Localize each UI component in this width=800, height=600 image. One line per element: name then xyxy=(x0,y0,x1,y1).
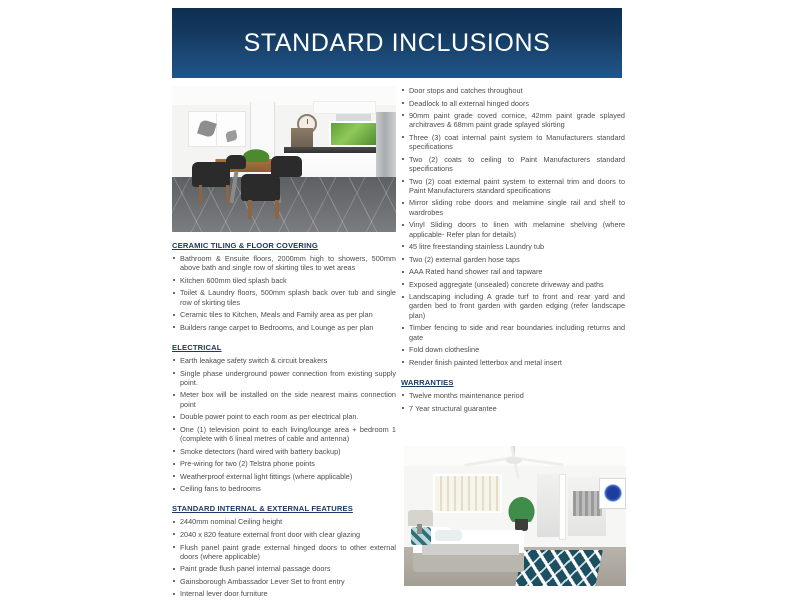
section-list: Door stops and catches throughout Deadlo… xyxy=(401,86,625,367)
list-item: Door stops and catches throughout xyxy=(401,86,625,95)
list-item: Internal lever door furniture xyxy=(172,589,396,598)
brochure-page: STANDARD INCLUSIONS xyxy=(0,0,800,600)
section-standard-features: STANDARD INTERNAL & EXTERNAL FEATURES 24… xyxy=(172,504,396,598)
list-item: Timber fencing to side and rear boundari… xyxy=(401,323,625,342)
section-heading: CERAMIC TILING & FLOOR COVERING xyxy=(172,241,396,250)
list-item: Landscaping including A grade turf to fr… xyxy=(401,292,625,320)
left-sections: CERAMIC TILING & FLOOR COVERING Bathroom… xyxy=(172,241,396,599)
list-item: Mirror sliding robe doors and melamine s… xyxy=(401,198,625,217)
list-item: Meter box will be installed on the side … xyxy=(172,390,396,409)
list-item: Gainsborough Ambassador Lever Set to fro… xyxy=(172,577,396,586)
list-item: Smoke detectors (hard wired with battery… xyxy=(172,447,396,456)
list-item: Earth leakage safety switch & circuit br… xyxy=(172,356,396,365)
list-item: Flush panel paint grade external hinged … xyxy=(172,543,396,562)
list-item: Double power point to each room as per e… xyxy=(172,412,396,421)
section-list: Twelve months maintenance period 7 Year … xyxy=(401,391,625,413)
section-heading: STANDARD INTERNAL & EXTERNAL FEATURES xyxy=(172,504,396,513)
list-item: Fold down clothesline xyxy=(401,345,625,354)
list-item: Builders range carpet to Bedrooms, and L… xyxy=(172,323,396,332)
section-electrical: ELECTRICAL Earth leakage safety switch &… xyxy=(172,343,396,493)
list-item: 90mm paint grade coved cornice, 42mm pai… xyxy=(401,111,625,130)
list-item: One (1) television point to each living/… xyxy=(172,425,396,444)
list-item: Bathroom & Ensuite floors, 2000mm high t… xyxy=(172,254,396,273)
section-list: Bathroom & Ensuite floors, 2000mm high t… xyxy=(172,254,396,332)
section-list: 2440mm nominal Ceiling height 2040 x 820… xyxy=(172,517,396,598)
bedroom-photo xyxy=(404,446,626,586)
section-warranties: WARRANTIES Twelve months maintenance per… xyxy=(401,378,625,413)
list-item: 7 Year structural guarantee xyxy=(401,404,625,413)
right-column: Door stops and catches throughout Deadlo… xyxy=(401,86,625,424)
list-item: Two (2) external garden hose taps xyxy=(401,255,625,264)
section-general-inclusions: Door stops and catches throughout Deadlo… xyxy=(401,86,625,367)
list-item: Three (3) coat internal paint system to … xyxy=(401,133,625,152)
kitchen-photo xyxy=(172,86,396,232)
list-item: Toilet & Laundry floors, 500mm splash ba… xyxy=(172,288,396,307)
list-item: Vinyl Sliding doors to linen with melami… xyxy=(401,220,625,239)
list-item: Weatherproof external light fittings (wh… xyxy=(172,472,396,481)
list-item: 2440mm nominal Ceiling height xyxy=(172,517,396,526)
list-item: Ceiling fans to bedrooms xyxy=(172,484,396,493)
list-item: 45 litre freestanding stainless Laundry … xyxy=(401,242,625,251)
section-heading: ELECTRICAL xyxy=(172,343,396,352)
page-header-banner: STANDARD INCLUSIONS xyxy=(172,8,622,78)
list-item: Twelve months maintenance period xyxy=(401,391,625,400)
section-heading: WARRANTIES xyxy=(401,378,625,387)
list-item: Deadlock to all external hinged doors xyxy=(401,99,625,108)
list-item: Ceramic tiles to Kitchen, Meals and Fami… xyxy=(172,310,396,319)
list-item: Kitchen 600mm tiled splash back xyxy=(172,276,396,285)
list-item: 2040 x 820 feature external front door w… xyxy=(172,530,396,539)
left-column: CERAMIC TILING & FLOOR COVERING Bathroom… xyxy=(172,86,396,600)
list-item: AAA Rated hand shower rail and tapware xyxy=(401,267,625,276)
list-item: Pre-wiring for two (2) Telstra phone poi… xyxy=(172,459,396,468)
list-item: Two (2) coats to ceiling to Paint Manufa… xyxy=(401,155,625,174)
list-item: Two (2) coat external paint system to ex… xyxy=(401,177,625,196)
list-item: Single phase underground power connectio… xyxy=(172,369,396,388)
list-item: Paint grade flush panel internal passage… xyxy=(172,564,396,573)
list-item: Render finish painted letterbox and meta… xyxy=(401,358,625,367)
page-title: STANDARD INCLUSIONS xyxy=(244,29,551,58)
list-item: Exposed aggregate (unsealed) concrete dr… xyxy=(401,280,625,289)
section-ceramic-tiling: CERAMIC TILING & FLOOR COVERING Bathroom… xyxy=(172,241,396,332)
section-list: Earth leakage safety switch & circuit br… xyxy=(172,356,396,493)
